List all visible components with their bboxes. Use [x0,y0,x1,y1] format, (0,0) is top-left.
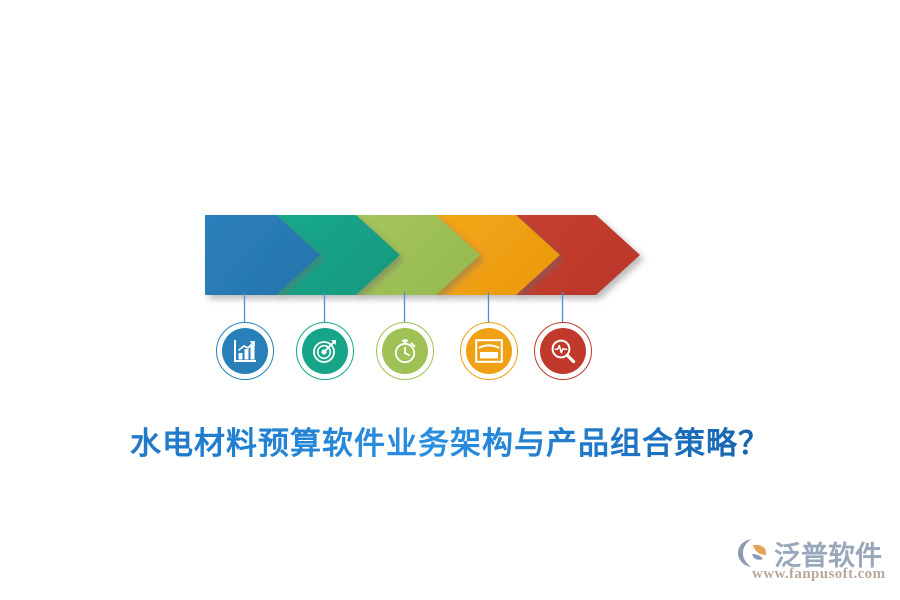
page-title: 水电材料预算软件业务架构与产品组合策略？ [0,418,900,463]
magnifier-pulse-icon [550,338,576,364]
node-core-4 [466,328,512,374]
process-node-1[interactable] [216,322,274,380]
process-node-5[interactable] [534,322,592,380]
document-window-icon [475,339,503,363]
brand-watermark: 泛普软件 www.fanpusoft.com [730,532,880,588]
slide-canvas: 水电材料预算软件业务架构与产品组合策略？ 泛普软件 www.fanpusoft.… [0,0,900,600]
node-core-1 [222,328,268,374]
target-arrow-icon [312,338,338,364]
brand-url: www.fanpusoft.com [752,566,885,583]
process-node-4[interactable] [460,322,518,380]
process-icon-row [0,322,900,388]
fanpu-logo-icon [738,538,772,568]
process-node-2[interactable] [296,322,354,380]
stopwatch-icon [392,338,418,364]
node-core-2 [302,328,348,374]
bar-chart-growth-icon [232,338,258,364]
process-node-3[interactable] [376,322,434,380]
node-core-3 [382,328,428,374]
node-core-5 [540,328,586,374]
